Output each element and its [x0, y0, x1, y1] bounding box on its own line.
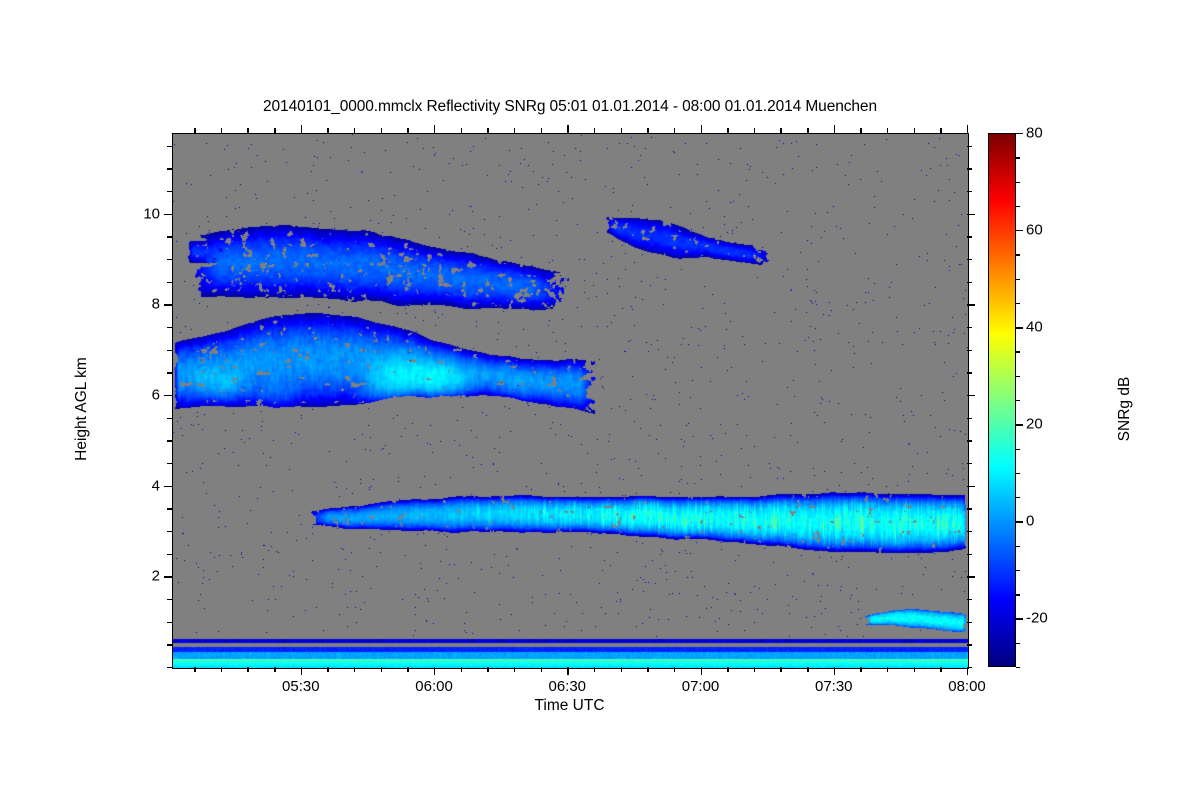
y-major-tick: [967, 304, 975, 305]
plot-area: [172, 133, 969, 669]
colorbar-minor-tick: [1016, 254, 1020, 255]
y-major-tick: [164, 214, 172, 215]
colorbar-minor-tick: [1016, 400, 1020, 401]
y-major-tick: [967, 395, 975, 396]
x-minor-tick: [274, 667, 275, 672]
x-minor-tick: [594, 667, 595, 672]
x-minor-tick: [780, 128, 781, 133]
y-minor-tick: [967, 554, 972, 555]
colorbar-minor-tick: [1016, 570, 1020, 571]
colorbar-label: SNRg dB: [1116, 319, 1134, 499]
y-major-tick: [164, 304, 172, 305]
y-minor-tick: [967, 191, 972, 192]
x-minor-tick: [407, 128, 408, 133]
y-major-tick: [164, 395, 172, 396]
colorbar-minor-tick: [1016, 303, 1020, 304]
y-minor-tick: [167, 667, 172, 668]
colorbar-tick-label: 0: [1026, 513, 1034, 530]
x-minor-tick: [194, 667, 195, 672]
x-minor-tick: [754, 128, 755, 133]
x-major-tick: [567, 667, 568, 675]
x-minor-tick: [221, 128, 222, 133]
x-minor-tick: [407, 667, 408, 672]
x-tick-label: 06:00: [415, 678, 453, 695]
x-minor-tick: [860, 667, 861, 672]
colorbar-tick-label: -20: [1026, 610, 1048, 627]
y-major-tick: [164, 576, 172, 577]
y-minor-tick: [967, 282, 972, 283]
x-minor-tick: [541, 128, 542, 133]
x-major-tick: [701, 667, 702, 675]
x-minor-tick: [727, 128, 728, 133]
x-major-tick: [567, 125, 568, 133]
y-minor-tick: [967, 350, 972, 351]
colorbar-tick-label: 60: [1026, 222, 1043, 239]
x-minor-tick: [354, 128, 355, 133]
x-minor-tick: [860, 128, 861, 133]
x-minor-tick: [887, 667, 888, 672]
y-minor-tick: [167, 327, 172, 328]
x-minor-tick: [807, 128, 808, 133]
x-minor-tick: [541, 667, 542, 672]
y-axis-label: Height AGL km: [73, 319, 91, 499]
y-minor-tick: [167, 644, 172, 645]
x-minor-tick: [194, 128, 195, 133]
x-minor-tick: [247, 667, 248, 672]
y-minor-tick: [967, 599, 972, 600]
y-minor-tick: [167, 350, 172, 351]
x-minor-tick: [247, 128, 248, 133]
colorbar-minor-tick: [1016, 157, 1020, 158]
x-minor-tick: [647, 667, 648, 672]
colorbar: [988, 133, 1016, 667]
x-minor-tick: [754, 667, 755, 672]
y-minor-tick: [967, 418, 972, 419]
colorbar-major-tick: [1016, 230, 1023, 231]
y-minor-tick: [967, 644, 972, 645]
colorbar-gradient: [988, 133, 1016, 667]
colorbar-minor-tick: [1016, 546, 1020, 547]
radar-figure: 20140101_0000.mmclx Reflectivity SNRg 05…: [0, 0, 1200, 800]
y-minor-tick: [967, 372, 972, 373]
x-minor-tick: [514, 128, 515, 133]
y-minor-tick: [967, 440, 972, 441]
colorbar-minor-tick: [1016, 497, 1020, 498]
y-minor-tick: [967, 259, 972, 260]
x-major-tick: [434, 667, 435, 675]
y-minor-tick: [167, 463, 172, 464]
y-tick-label: 4: [118, 477, 160, 494]
y-minor-tick: [167, 168, 172, 169]
x-minor-tick: [514, 667, 515, 672]
x-minor-tick: [221, 667, 222, 672]
x-tick-label: 07:30: [815, 678, 853, 695]
x-minor-tick: [887, 128, 888, 133]
colorbar-minor-tick: [1016, 206, 1020, 207]
colorbar-major-tick: [1016, 618, 1023, 619]
x-minor-tick: [487, 667, 488, 672]
y-minor-tick: [967, 168, 972, 169]
y-tick-label: 2: [118, 568, 160, 585]
y-minor-tick: [967, 146, 972, 147]
x-minor-tick: [381, 667, 382, 672]
y-minor-tick: [167, 236, 172, 237]
x-major-tick: [834, 667, 835, 675]
y-minor-tick: [167, 191, 172, 192]
colorbar-major-tick: [1016, 133, 1023, 134]
x-minor-tick: [914, 667, 915, 672]
y-minor-tick: [967, 327, 972, 328]
x-minor-tick: [487, 128, 488, 133]
y-minor-tick: [967, 531, 972, 532]
x-major-tick: [701, 125, 702, 133]
colorbar-minor-tick: [1016, 594, 1020, 595]
y-major-tick: [967, 214, 975, 215]
y-minor-tick: [967, 622, 972, 623]
y-minor-tick: [167, 259, 172, 260]
x-axis-label: Time UTC: [172, 697, 967, 715]
colorbar-minor-tick: [1016, 376, 1020, 377]
x-tick-label: 05:30: [282, 678, 320, 695]
y-major-tick: [967, 486, 975, 487]
x-minor-tick: [274, 128, 275, 133]
colorbar-minor-tick: [1016, 667, 1020, 668]
y-major-tick: [967, 576, 975, 577]
y-minor-tick: [167, 372, 172, 373]
x-tick-label: 06:30: [548, 678, 586, 695]
x-minor-tick: [647, 128, 648, 133]
y-tick-label: 6: [118, 387, 160, 404]
x-minor-tick: [940, 667, 941, 672]
y-minor-tick: [967, 667, 972, 668]
x-minor-tick: [727, 667, 728, 672]
x-minor-tick: [327, 667, 328, 672]
y-minor-tick: [167, 440, 172, 441]
reflectivity-heatmap: [173, 134, 968, 668]
y-minor-tick: [167, 418, 172, 419]
colorbar-minor-tick: [1016, 449, 1020, 450]
x-tick-label: 07:00: [682, 678, 720, 695]
x-minor-tick: [354, 667, 355, 672]
x-major-tick: [434, 125, 435, 133]
colorbar-minor-tick: [1016, 279, 1020, 280]
y-minor-tick: [167, 508, 172, 509]
x-major-tick: [301, 667, 302, 675]
x-minor-tick: [914, 128, 915, 133]
y-minor-tick: [167, 622, 172, 623]
x-minor-tick: [621, 667, 622, 672]
y-minor-tick: [967, 463, 972, 464]
colorbar-major-tick: [1016, 521, 1023, 522]
colorbar-minor-tick: [1016, 182, 1020, 183]
x-minor-tick: [674, 128, 675, 133]
colorbar-minor-tick: [1016, 473, 1020, 474]
y-minor-tick: [167, 146, 172, 147]
y-minor-tick: [167, 282, 172, 283]
x-minor-tick: [461, 128, 462, 133]
x-tick-label: 08:00: [948, 678, 986, 695]
colorbar-minor-tick: [1016, 351, 1020, 352]
x-minor-tick: [327, 128, 328, 133]
x-minor-tick: [674, 667, 675, 672]
y-minor-tick: [967, 236, 972, 237]
x-minor-tick: [621, 128, 622, 133]
y-minor-tick: [167, 531, 172, 532]
x-minor-tick: [780, 667, 781, 672]
y-minor-tick: [167, 599, 172, 600]
x-minor-tick: [594, 128, 595, 133]
x-minor-tick: [807, 667, 808, 672]
x-minor-tick: [940, 128, 941, 133]
colorbar-major-tick: [1016, 327, 1023, 328]
colorbar-tick-label: 80: [1026, 125, 1043, 142]
y-minor-tick: [167, 554, 172, 555]
y-minor-tick: [967, 508, 972, 509]
y-tick-label: 8: [118, 296, 160, 313]
colorbar-tick-label: 40: [1026, 319, 1043, 336]
x-major-tick: [301, 125, 302, 133]
colorbar-major-tick: [1016, 424, 1023, 425]
x-major-tick: [834, 125, 835, 133]
x-minor-tick: [381, 128, 382, 133]
colorbar-tick-label: 20: [1026, 416, 1043, 433]
y-tick-label: 10: [118, 205, 160, 222]
x-major-tick: [967, 125, 968, 133]
y-major-tick: [164, 486, 172, 487]
colorbar-minor-tick: [1016, 643, 1020, 644]
x-minor-tick: [461, 667, 462, 672]
page-title: 20140101_0000.mmclx Reflectivity SNRg 05…: [172, 98, 968, 116]
